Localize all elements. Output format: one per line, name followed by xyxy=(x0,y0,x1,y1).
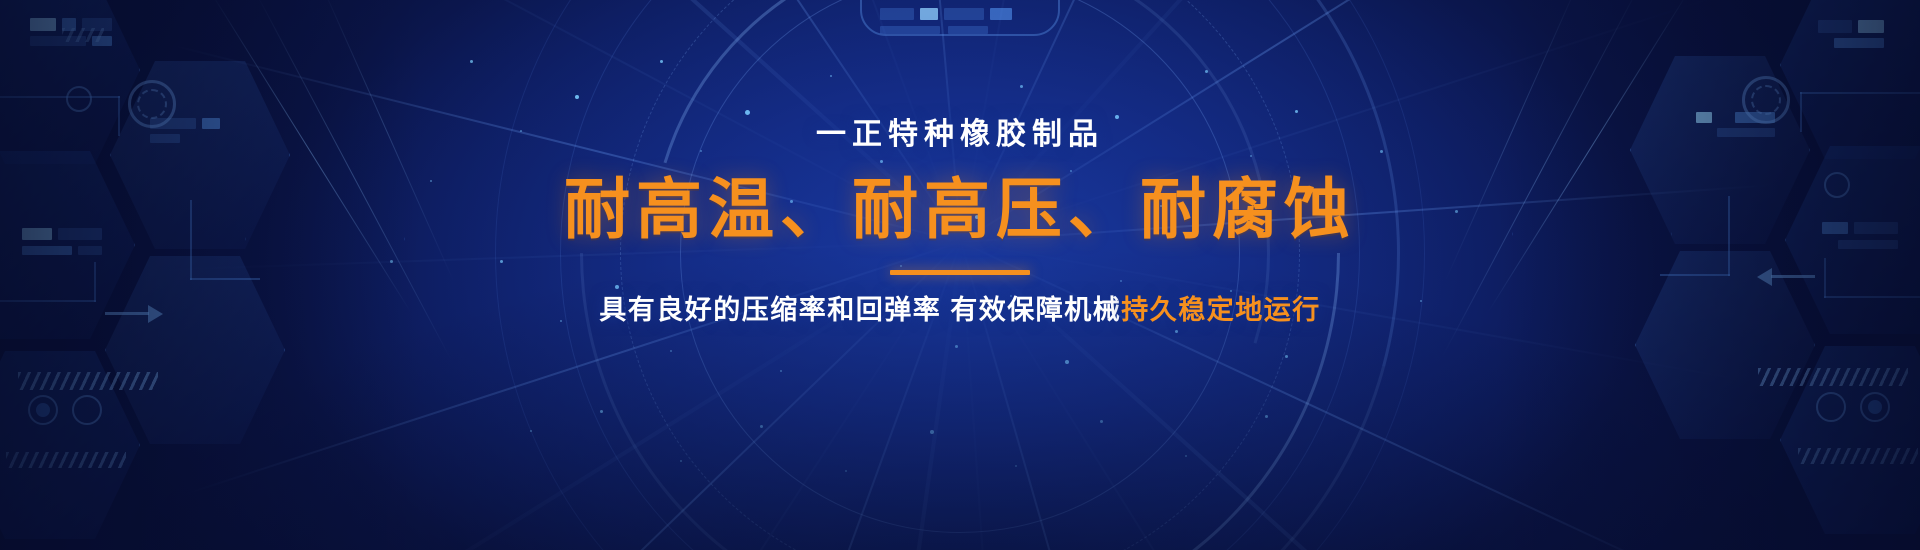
hero-banner: 一正特种橡胶制品 耐高温、耐高压、耐腐蚀 具有良好的压缩率和回弹率 有效保障机械… xyxy=(0,0,1920,550)
banner-headline: 耐高温、耐高压、耐腐蚀 xyxy=(564,176,1356,242)
tagline-white-text: 具有良好的压缩率和回弹率 有效保障机械 xyxy=(599,295,1121,325)
headline-divider xyxy=(890,270,1030,275)
banner-tagline: 具有良好的压缩率和回弹率 有效保障机械持久稳定地运行 xyxy=(599,297,1321,324)
banner-subtitle: 一正特种橡胶制品 xyxy=(816,120,1104,150)
hero-text-block: 一正特种橡胶制品 耐高温、耐高压、耐腐蚀 具有良好的压缩率和回弹率 有效保障机械… xyxy=(0,120,1920,324)
gear-icon xyxy=(1742,76,1790,124)
tagline-orange-text: 持久稳定地运行 xyxy=(1121,295,1321,325)
